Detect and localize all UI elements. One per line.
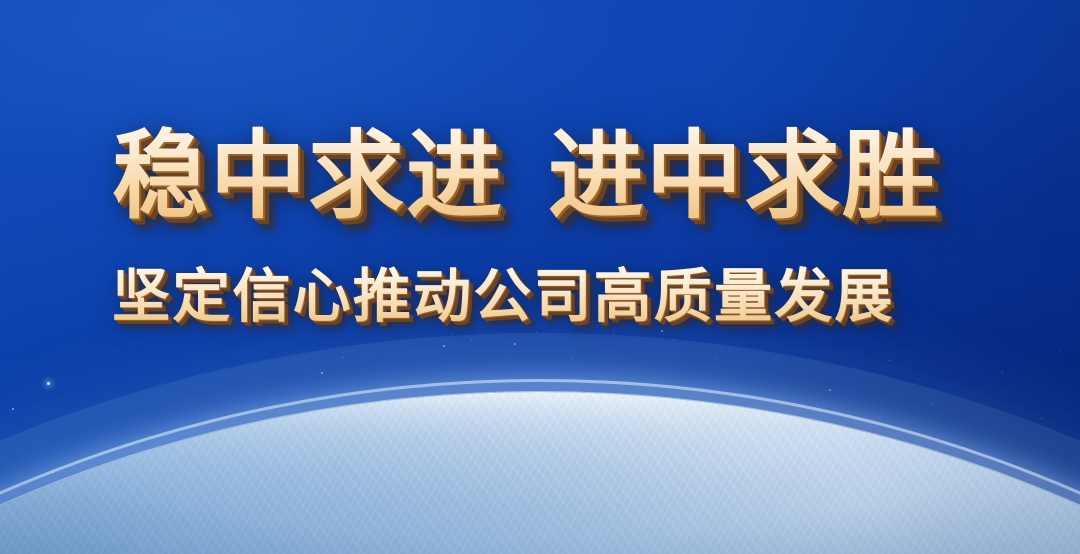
- promotional-banner: 稳中求进进中求胜 坚定信心推动公司高质量发展: [0, 0, 1080, 554]
- earth-globe: [0, 392, 1080, 554]
- earth-globe-container: [0, 0, 1080, 554]
- earth-surface-texture: [0, 392, 1080, 554]
